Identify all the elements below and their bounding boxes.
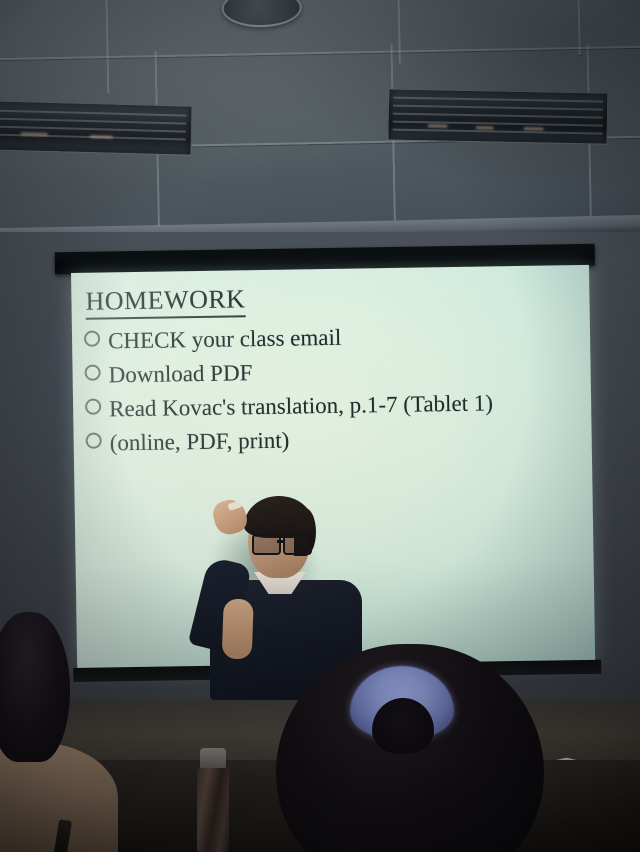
bullet-text: CHECK your class email: [108, 324, 342, 357]
ceiling-vent-left: [0, 100, 193, 156]
ceiling-vent-right: [387, 88, 608, 144]
student-center-ponytail: [372, 698, 434, 754]
water-bottle: [196, 748, 230, 852]
bullet-text: Download PDF: [108, 359, 252, 390]
student-left-hair: [0, 612, 70, 762]
list-item: (online, PDF, print): [85, 422, 585, 459]
glasses-icon: [250, 534, 312, 552]
instructor-forearm: [222, 598, 254, 659]
list-item: Download PDF: [84, 354, 584, 391]
open-circle-icon: [84, 331, 100, 347]
open-circle-icon: [86, 432, 102, 448]
student-center: [276, 644, 544, 852]
bottle-body: [197, 766, 229, 852]
open-circle-icon: [84, 365, 100, 381]
list-item: Read Kovac's translation, p.1-7 (Tablet …: [85, 388, 585, 425]
list-item: CHECK your class email: [84, 320, 584, 357]
bottle-cap: [200, 748, 226, 768]
bullet-text: Read Kovac's translation, p.1-7 (Tablet …: [109, 389, 493, 424]
instructor-upper-arm: [188, 556, 252, 654]
photo-scene: HOMEWORK CHECK your class email Download…: [0, 0, 640, 852]
slide-title: HOMEWORK: [85, 284, 245, 320]
student-left: [0, 612, 108, 852]
slide-content: HOMEWORK CHECK your class email Download…: [83, 279, 586, 464]
open-circle-icon: [85, 398, 101, 414]
bullet-text: (online, PDF, print): [109, 426, 289, 458]
smoke-detector-icon: [221, 0, 302, 28]
slide-bullet-list: CHECK your class email Download PDF Read…: [84, 320, 586, 459]
